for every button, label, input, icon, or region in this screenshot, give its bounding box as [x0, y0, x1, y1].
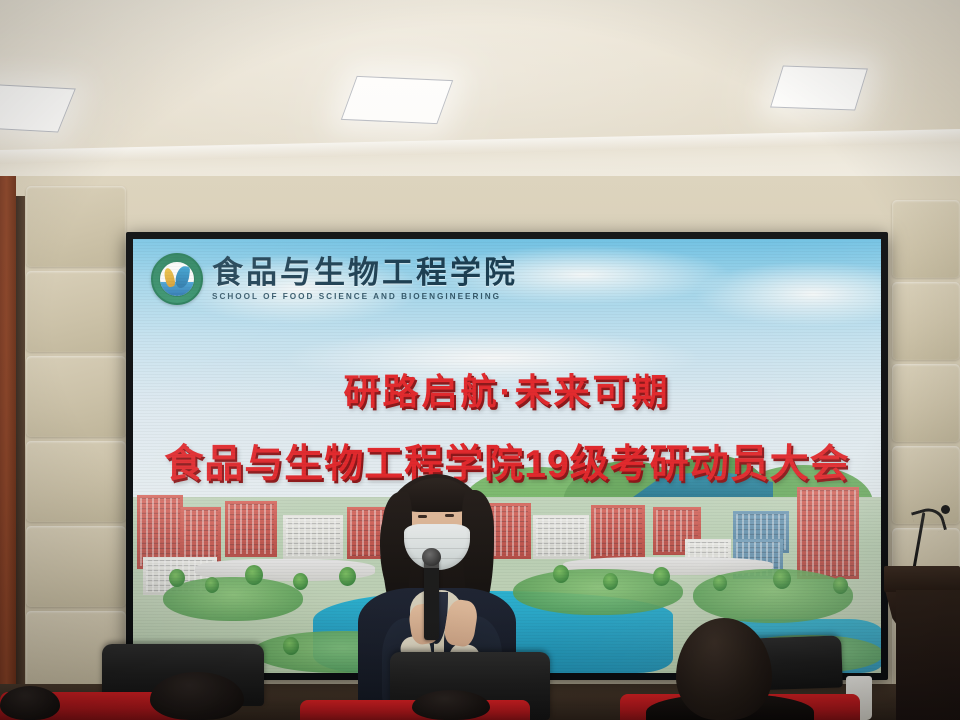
- tree: [603, 573, 618, 590]
- wood-trim-left: [0, 176, 16, 720]
- wall-panel: [26, 271, 126, 352]
- wooden-lectern: [896, 590, 960, 720]
- lawn: [163, 577, 303, 621]
- tree: [245, 565, 263, 585]
- handheld-microphone: [424, 554, 439, 640]
- wall-panels-left: [26, 186, 126, 720]
- tree: [653, 567, 670, 586]
- slide-title-line-1: 研路启航·未来可期: [133, 363, 881, 415]
- school-name-cn: 食品与生物工程学院: [212, 257, 518, 289]
- audience-head: [412, 690, 490, 720]
- campus-building: [533, 515, 589, 559]
- campus-building: [283, 515, 343, 559]
- tree: [293, 573, 308, 590]
- tree: [773, 569, 791, 589]
- ceiling-panel-light-right: [770, 65, 868, 110]
- wall-panel: [892, 364, 960, 442]
- campus-building: [225, 501, 277, 557]
- slide-branding: 食品与生物工程学院 SCHOOL OF FOOD SCIENCE AND BIO…: [151, 253, 518, 305]
- wall-panel: [26, 356, 126, 437]
- wall-panel: [26, 441, 126, 522]
- wall-panel: [26, 526, 126, 607]
- presenter-eye-left: [418, 515, 427, 518]
- ceiling-panel-light-center: [341, 76, 453, 124]
- lectern-top: [884, 566, 960, 592]
- wall-panel: [892, 282, 960, 360]
- microphone-head: [422, 548, 441, 566]
- school-name-block: 食品与生物工程学院 SCHOOL OF FOOD SCIENCE AND BIO…: [212, 257, 518, 301]
- wall-panel: [26, 186, 126, 267]
- campus-building: [591, 505, 645, 559]
- wood-trim-left-shadow: [16, 196, 25, 720]
- presenter-eye-right: [445, 514, 454, 517]
- wall-panel: [892, 200, 960, 278]
- tree: [713, 575, 727, 591]
- tree: [205, 577, 219, 593]
- conference-hall-photo: 食品与生物工程学院 SCHOOL OF FOOD SCIENCE AND BIO…: [0, 0, 960, 720]
- campus-building: [797, 487, 859, 579]
- tree: [283, 637, 299, 655]
- school-emblem-icon: [151, 253, 203, 305]
- tree: [833, 577, 848, 594]
- audience-head: [0, 686, 60, 720]
- school-name-en: SCHOOL OF FOOD SCIENCE AND BIOENGINEERIN…: [212, 292, 518, 301]
- tree: [553, 565, 569, 583]
- audience-head: [150, 672, 244, 720]
- tree: [169, 569, 185, 587]
- emblem-inner: [159, 261, 195, 297]
- gooseneck-microphone-capsule: [941, 505, 950, 514]
